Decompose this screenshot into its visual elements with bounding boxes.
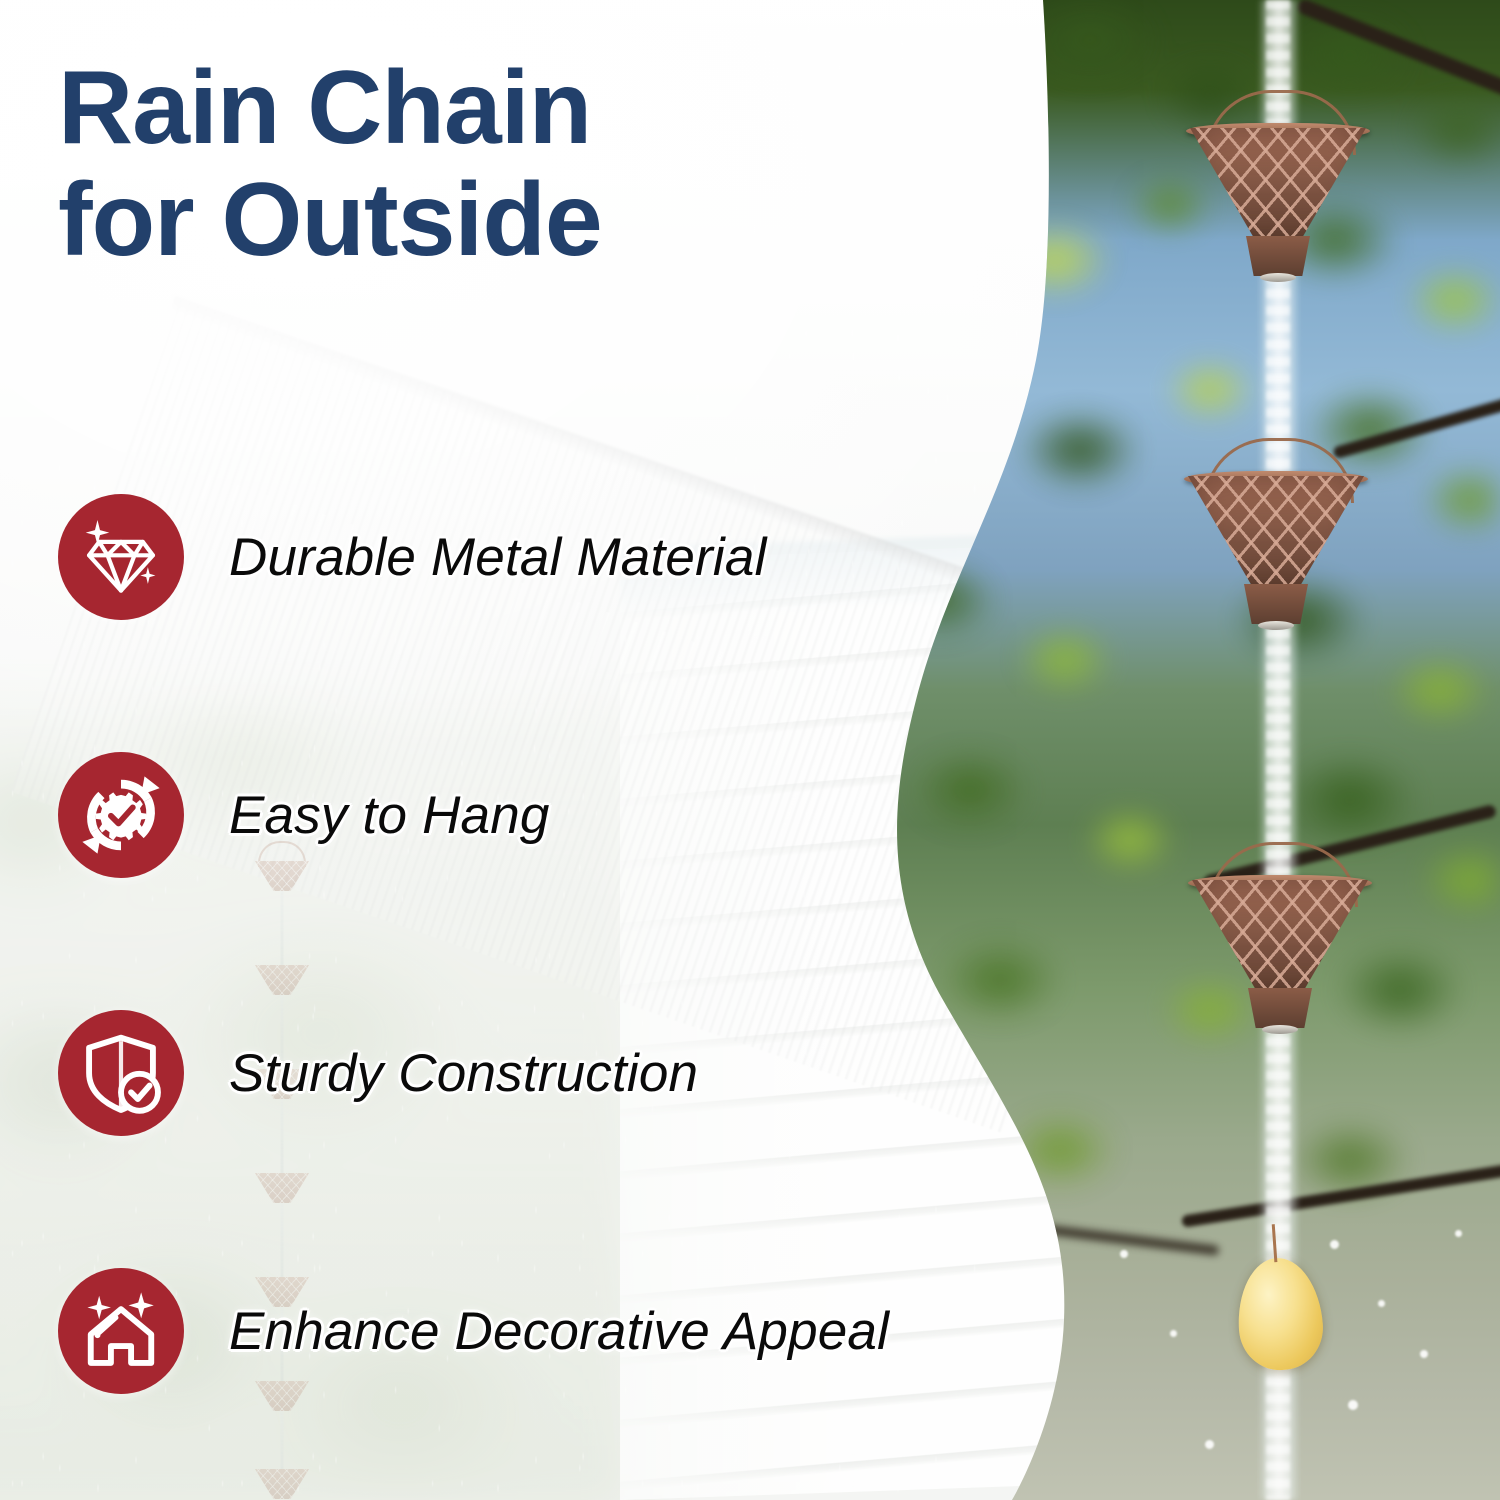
- feature-item: Easy to Hang: [58, 750, 958, 880]
- feature-label: Enhance Decorative Appeal: [229, 1301, 889, 1362]
- feature-item: Sturdy Construction: [58, 1008, 958, 1138]
- page-title: Rain Chain for Outside: [58, 52, 918, 277]
- feature-list: Durable Metal Material: [58, 492, 958, 1396]
- feature-label: Sturdy Construction: [229, 1043, 698, 1104]
- product-infographic: Rain Chain for Outside Durable Metal Mat…: [0, 0, 1500, 1500]
- rain-chain-cup-top: [1190, 128, 1366, 278]
- water-droplet: [1170, 1330, 1177, 1337]
- cup-spout: [1260, 273, 1296, 282]
- rain-chain-cup-bottom: [1192, 880, 1368, 1030]
- water-droplet: [1120, 1250, 1128, 1258]
- water-droplet: [1348, 1400, 1358, 1410]
- cup-base: [1248, 988, 1312, 1028]
- cup-lattice-body: [1190, 128, 1366, 240]
- sparkle-house-icon: [79, 1289, 163, 1373]
- cup-spout: [1262, 1025, 1298, 1034]
- feature-icon-badge: [58, 494, 184, 620]
- feature-icon-badge: [58, 752, 184, 878]
- water-droplet: [1205, 1440, 1214, 1449]
- cup-lattice-body: [1188, 476, 1364, 588]
- feature-icon-badge: [58, 1010, 184, 1136]
- feature-label: Easy to Hang: [229, 785, 550, 846]
- water-droplet: [1455, 1230, 1462, 1237]
- gear-refresh-check-icon: [79, 773, 163, 857]
- feature-item: Enhance Decorative Appeal: [58, 1266, 958, 1396]
- feature-item: Durable Metal Material: [58, 492, 958, 622]
- shield-check-icon: [79, 1031, 163, 1115]
- cup-lattice-body: [1192, 880, 1368, 992]
- water-droplet: [1330, 1240, 1339, 1249]
- cup-base: [1246, 236, 1310, 276]
- feature-icon-badge: [58, 1268, 184, 1394]
- cup-spout: [1258, 621, 1294, 630]
- feature-label: Durable Metal Material: [229, 527, 767, 588]
- water-droplet: [1420, 1350, 1428, 1358]
- diamond-gem-icon: [79, 515, 163, 599]
- rain-chain-cup-middle: [1188, 476, 1364, 626]
- cup-base: [1244, 584, 1308, 624]
- water-droplet: [1378, 1300, 1385, 1307]
